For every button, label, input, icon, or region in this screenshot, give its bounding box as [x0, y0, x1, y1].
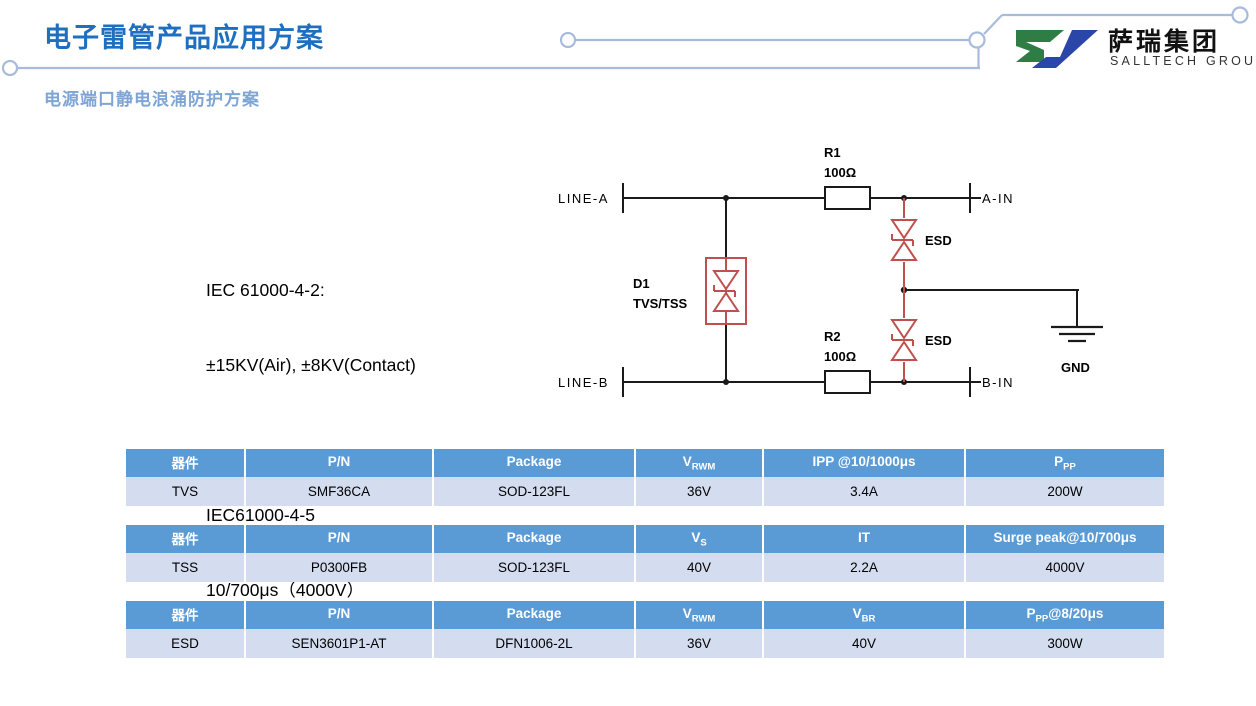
- cell-pn: SEN3601P1-AT: [246, 629, 432, 658]
- col-header-vrwm: VRWM: [636, 601, 762, 629]
- logo-name-en: SALLTECH GROUP: [1110, 54, 1256, 68]
- cell-package: SOD-123FL: [434, 553, 634, 582]
- page-subtitle: 电源端口静电浪涌防护方案: [44, 85, 260, 110]
- col-header-pn: P/N: [246, 449, 432, 477]
- parameter-table-tss: 器件 P/N Package VS IT Surge peak@10/700μs…: [124, 525, 1166, 582]
- col-header-device: 器件: [126, 525, 244, 553]
- ground-symbol: [1051, 327, 1103, 341]
- cell-device: TSS: [126, 553, 244, 582]
- label-d1-type: TVS/TSS: [633, 296, 688, 311]
- resistor-r1: [825, 187, 870, 209]
- cell-ppp-8-20: 300W: [966, 629, 1164, 658]
- deco-circle-left: [3, 61, 17, 75]
- table-header-row: 器件 P/N Package VS IT Surge peak@10/700μs: [126, 525, 1164, 553]
- col-header-it: IT: [764, 525, 964, 553]
- cell-ipp: 3.4A: [764, 477, 964, 506]
- col-header-pn: P/N: [246, 525, 432, 553]
- label-line-b: LINE-B: [558, 375, 609, 390]
- col-header-ppp: PPP: [966, 449, 1164, 477]
- label-r2-value: 100Ω: [824, 349, 856, 364]
- col-header-vrwm: VRWM: [636, 449, 762, 477]
- salltech-logo-mark: [1012, 26, 1102, 72]
- table-header-row: 器件 P/N Package VRWM IPP @10/1000μs PPP: [126, 449, 1164, 477]
- deco-circle-mid: [561, 33, 575, 47]
- col-header-package: Package: [434, 601, 634, 629]
- spec-line-2: ±15KV(Air), ±8KV(Contact): [206, 353, 416, 378]
- label-esd-top: ESD: [925, 233, 952, 248]
- col-header-ipp: IPP @10/1000μs: [764, 449, 964, 477]
- circuit-labels: LINE-A LINE-B A-IN B-IN GND D1 TVS/TSS R…: [558, 145, 1090, 390]
- label-gnd: GND: [1061, 360, 1090, 375]
- col-header-pn: P/N: [246, 601, 432, 629]
- table-row: ESD SEN3601P1-AT DFN1006-2L 36V 40V 300W: [126, 629, 1164, 658]
- cell-vrwm: 36V: [636, 477, 762, 506]
- company-logo: 萨瑞集团 SALLTECH GROUP: [1012, 24, 1252, 76]
- table-row: TSS P0300FB SOD-123FL 40V 2.2A 4000V: [126, 553, 1164, 582]
- device-esd-bottom: [892, 290, 916, 382]
- circuit-diagram: LINE-A LINE-B A-IN B-IN GND D1 TVS/TSS R…: [540, 140, 1140, 410]
- label-b-in: B-IN: [982, 375, 1014, 390]
- label-line-a: LINE-A: [558, 191, 609, 206]
- device-d1-tvs-tss: [706, 258, 746, 324]
- label-r1-value: 100Ω: [824, 165, 856, 180]
- parameter-table-tvs: 器件 P/N Package VRWM IPP @10/1000μs PPP T…: [124, 449, 1166, 506]
- cell-it: 2.2A: [764, 553, 964, 582]
- deco-diagonal: [984, 15, 1002, 34]
- cell-package: DFN1006-2L: [434, 629, 634, 658]
- cell-pn: P0300FB: [246, 553, 432, 582]
- device-esd-top: [892, 198, 916, 290]
- cell-vs: 40V: [636, 553, 762, 582]
- logo-name-cn: 萨瑞集团: [1108, 22, 1220, 58]
- label-d1-ref: D1: [633, 276, 650, 291]
- cell-vrwm: 36V: [636, 629, 762, 658]
- junction-dots: [723, 195, 907, 385]
- deco-circle-top-right: [1233, 8, 1248, 23]
- label-r1-ref: R1: [824, 145, 841, 160]
- col-header-device: 器件: [126, 449, 244, 477]
- parameter-table-esd: 器件 P/N Package VRWM VBR PPP@8/20μs ESD S…: [124, 601, 1166, 658]
- deco-circle-right: [970, 33, 985, 48]
- table-row: TVS SMF36CA SOD-123FL 36V 3.4A 200W: [126, 477, 1164, 506]
- col-header-device: 器件: [126, 601, 244, 629]
- col-header-vs: VS: [636, 525, 762, 553]
- cell-pn: SMF36CA: [246, 477, 432, 506]
- label-esd-bottom: ESD: [925, 333, 952, 348]
- col-header-package: Package: [434, 525, 634, 553]
- col-header-vbr: VBR: [764, 601, 964, 629]
- col-header-surge-peak: Surge peak@10/700μs: [966, 525, 1164, 553]
- label-r2-ref: R2: [824, 329, 841, 344]
- col-header-ppp-8-20: PPP@8/20μs: [966, 601, 1164, 629]
- cell-vbr: 40V: [764, 629, 964, 658]
- page-title: 电子雷管产品应用方案: [44, 16, 324, 55]
- cell-ppp: 200W: [966, 477, 1164, 506]
- cell-package: SOD-123FL: [434, 477, 634, 506]
- col-header-package: Package: [434, 449, 634, 477]
- spec-line-1: IEC 61000-4-2:: [206, 278, 416, 303]
- table-header-row: 器件 P/N Package VRWM VBR PPP@8/20μs: [126, 601, 1164, 629]
- resistor-r2: [825, 371, 870, 393]
- cell-surge-peak: 4000V: [966, 553, 1164, 582]
- cell-device: ESD: [126, 629, 244, 658]
- cell-device: TVS: [126, 477, 244, 506]
- label-a-in: A-IN: [982, 191, 1014, 206]
